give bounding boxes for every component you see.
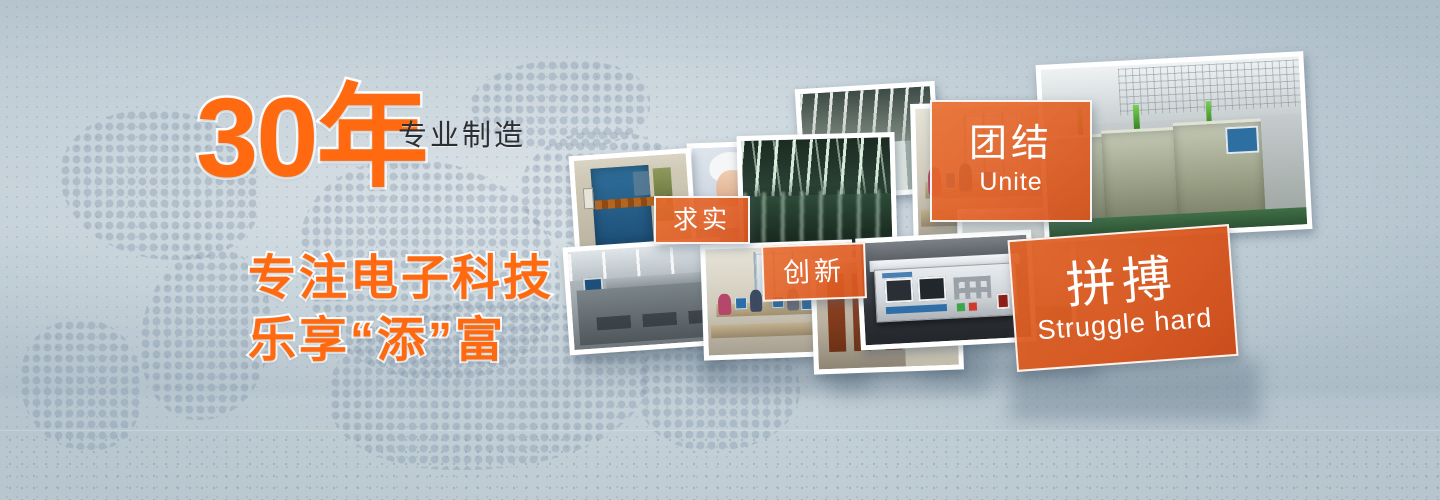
value-label-en: Unite	[979, 169, 1042, 197]
value-label-pinbo[interactable]: 拼搏 Struggle hard	[1007, 224, 1238, 372]
photo-factory-corridor	[736, 132, 897, 254]
years-heading: 30 年	[196, 82, 427, 194]
slogan-line-1: 专注电子科技	[248, 238, 554, 308]
headline-block: 30 年 专业制造 专注电子科技 乐享“添”富	[0, 0, 620, 420]
value-label-qiushi[interactable]: 求实	[654, 196, 750, 244]
value-label-cn: 求实	[673, 207, 731, 233]
background-dot-grid-lower	[0, 430, 1440, 500]
value-label-cn: 创新	[783, 257, 846, 287]
value-label-cn: 团结	[969, 125, 1053, 165]
years-number: 30	[196, 82, 317, 194]
subtitle-professional-manufacturing: 专业制造	[398, 112, 526, 154]
value-label-tuanjie[interactable]: 团结 Unite	[930, 100, 1092, 222]
promo-banner: 30 年 专业制造 专注电子科技 乐享“添”富	[0, 0, 1440, 500]
value-label-cn: 拼搏	[1064, 252, 1180, 313]
value-label-chuangxin[interactable]: 创新	[761, 242, 867, 302]
value-label-en: Struggle hard	[1037, 304, 1214, 346]
slogan-line-2: 乐享“添”富	[248, 300, 506, 370]
photo-collage: 求实 创新 团结 Unite 拼搏 Struggle hard	[540, 30, 1300, 430]
